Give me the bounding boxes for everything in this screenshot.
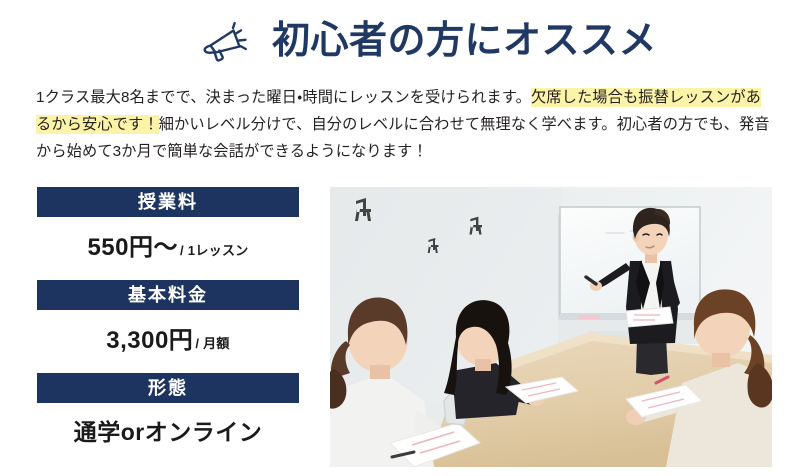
lead-paragraph: 1クラス最大8名までで、決まった曜日・時間にレッスンを受けられます。欠席した場合… bbox=[0, 84, 800, 165]
price-amount-base-fee: 3,300円 bbox=[106, 327, 193, 354]
price-value-tuition: 550円〜/ 1レッスン bbox=[37, 217, 299, 274]
price-amount-tuition: 550円〜 bbox=[87, 234, 178, 261]
price-block-tuition: 授業料 550円〜/ 1レッスン bbox=[37, 187, 330, 274]
megaphone-icon bbox=[200, 17, 258, 65]
price-bar-label-base-fee: 基本料金 bbox=[37, 280, 299, 310]
price-value-mode: 通学orオンライン bbox=[37, 403, 299, 459]
price-unit-base-fee: / 月額 bbox=[195, 336, 229, 351]
page-title: 初心者の方にオススメ bbox=[272, 22, 657, 60]
price-value-base-fee: 3,300円/ 月額 bbox=[37, 310, 299, 367]
price-block-mode: 形態 通学orオンライン bbox=[37, 373, 330, 459]
price-bar-label-mode: 形態 bbox=[37, 373, 299, 403]
content-columns: 授業料 550円〜/ 1レッスン 基本料金 3,300円/ 月額 形態 通学or… bbox=[0, 187, 800, 467]
mode-value-text: 通学orオンライン bbox=[74, 419, 263, 445]
classroom-photo-column bbox=[330, 187, 800, 467]
price-table: 授業料 550円〜/ 1レッスン 基本料金 3,300円/ 月額 形態 通学or… bbox=[0, 187, 330, 465]
page-heading: 初心者の方にオススメ bbox=[0, 0, 800, 70]
lead-text-part1: 1クラス最大8名までで、決まった曜日・時間にレッスンを受けられます。 bbox=[36, 89, 531, 106]
price-unit-tuition: / 1レッスン bbox=[180, 243, 249, 258]
price-block-base-fee: 基本料金 3,300円/ 月額 bbox=[37, 280, 330, 367]
price-bar-label-tuition: 授業料 bbox=[37, 187, 299, 217]
classroom-photo bbox=[330, 187, 772, 467]
